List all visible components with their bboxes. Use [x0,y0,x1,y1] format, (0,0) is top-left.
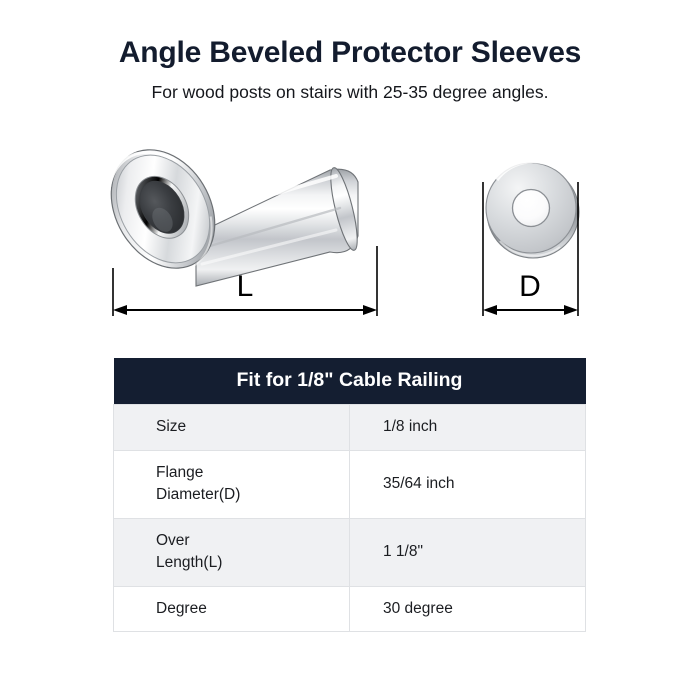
sleeve-side-view: L [90,140,377,316]
length-label: L [237,270,254,303]
row-key-line1: Size [156,416,337,438]
table-row: Size 1/8 inch [114,405,586,450]
table-row: Over Length(L) 1 1/8" [114,518,586,586]
diameter-label: D [519,270,541,303]
product-figure: L D [0,140,700,340]
row-value-degree: 30 degree [350,586,586,631]
row-key-line1: Over [156,530,337,552]
flange-front-view: D [483,162,579,316]
row-value-size: 1/8 inch [350,405,586,450]
row-key-line1: Flange [156,462,337,484]
sleeve-barrel [196,166,363,286]
header-block: Angle Beveled Protector Sleeves For wood… [0,36,700,103]
row-value-flange-diameter: 35/64 inch [350,450,586,518]
row-key-line2: Diameter(D) [156,484,337,506]
page-subtitle: For wood posts on stairs with 25-35 degr… [0,82,700,103]
table-header-row: Fit for 1/8" Cable Railing [114,358,586,405]
row-key-size: Size [114,405,350,450]
table-header-title: Fit for 1/8" Cable Railing [114,358,586,405]
row-value-over-length: 1 1/8" [350,518,586,586]
row-key-line1: Degree [156,598,337,620]
row-key-flange-diameter: Flange Diameter(D) [114,450,350,518]
row-key-degree: Degree [114,586,350,631]
row-key-line2: Length(L) [156,552,337,574]
spec-table: Fit for 1/8" Cable Railing Size 1/8 inch… [113,358,586,632]
page-title: Angle Beveled Protector Sleeves [0,36,700,69]
row-key-over-length: Over Length(L) [114,518,350,586]
table-row: Degree 30 degree [114,586,586,631]
table-row: Flange Diameter(D) 35/64 inch [114,450,586,518]
product-infographic: Angle Beveled Protector Sleeves For wood… [0,0,700,700]
